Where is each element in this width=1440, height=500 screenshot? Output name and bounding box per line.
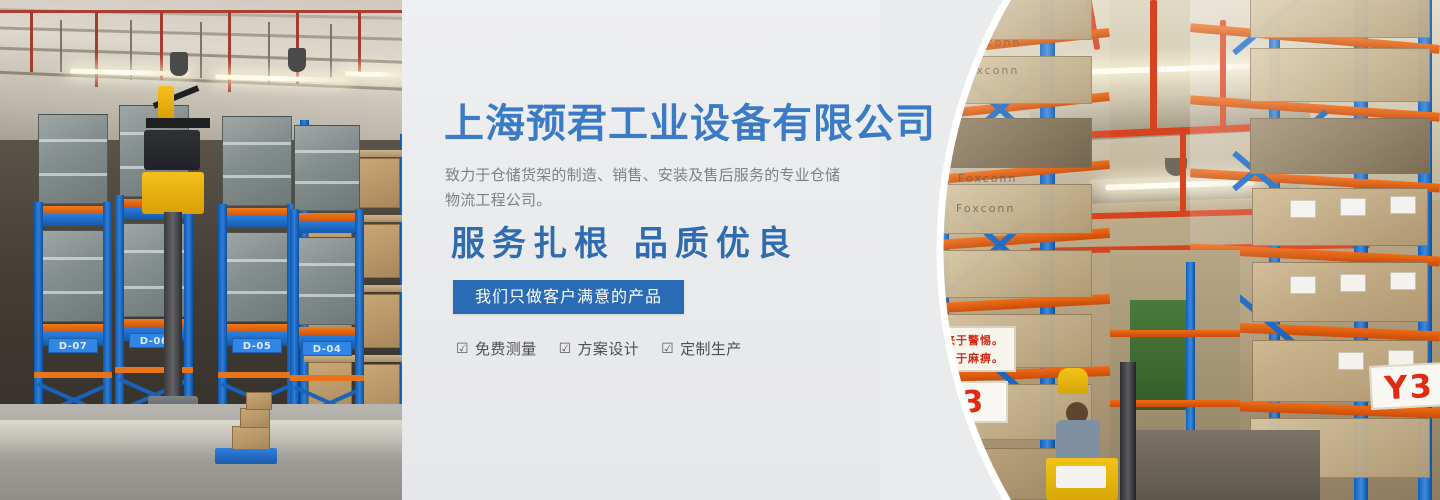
sprinkler-drop <box>358 12 361 76</box>
stacked-crate <box>38 114 108 204</box>
company-description: 致力于仓储货架的制造、销售、安装及售后服务的专业仓储物流工程公司。 <box>445 163 855 213</box>
stacked-crate <box>38 230 108 322</box>
forklift <box>1040 362 1160 500</box>
fire-pipe <box>1150 0 1157 130</box>
floor-light-reflection <box>0 420 402 460</box>
cardboard-box <box>246 392 272 410</box>
rack-label: D-05 <box>232 338 282 353</box>
feature-label: 免费测量 <box>475 338 537 359</box>
stacked-crate <box>294 237 360 325</box>
check-icon: ☑ <box>456 342 469 356</box>
rack-column: D-07 <box>34 114 112 444</box>
check-icon: ☑ <box>661 342 674 356</box>
stacked-crate <box>294 125 360 211</box>
fire-pipe <box>1180 130 1186 216</box>
hanger <box>268 22 270 84</box>
feature-item-custom-production: ☑ 定制生产 <box>661 338 742 359</box>
stacked-crate <box>222 232 292 322</box>
hanger <box>200 22 202 78</box>
rack-label: D-04 <box>302 341 352 356</box>
sprinkler-main <box>0 10 402 13</box>
cta-button[interactable]: 我们只做客户满意的产品 <box>453 280 684 314</box>
sprinkler-drop <box>30 12 33 72</box>
feature-list: ☑ 免费测量 ☑ 方案设计 ☑ 定制生产 <box>456 338 742 359</box>
page-title: 上海预君工业设备有限公司 <box>444 104 936 144</box>
banner-content: 上海预君工业设备有限公司 致力于仓储货架的制造、销售、安装及售后服务的专业仓储物… <box>444 0 944 500</box>
sprinkler-drop <box>95 12 98 87</box>
hanger <box>60 20 62 72</box>
rack-beam <box>1110 330 1240 337</box>
high-bay-lamp <box>288 48 306 72</box>
sprinkler-drop <box>228 12 231 92</box>
left-warehouse-photo: D-07 D-06 <box>0 0 402 500</box>
feature-item-free-measurement: ☑ 免费测量 <box>456 338 537 359</box>
blue-pallet <box>215 448 277 464</box>
right-warehouse-photo: Foxconn Foxconn Foxconn Foxconn <box>880 0 1440 500</box>
hero-banner: D-07 D-06 <box>0 0 1440 500</box>
forklift-panel <box>1056 466 1106 488</box>
cardboard-box <box>232 426 270 450</box>
feature-label: 定制生产 <box>680 338 742 359</box>
rack-label: D-07 <box>48 338 98 353</box>
rack-column: D-04 <box>290 119 364 444</box>
hanger <box>330 24 332 82</box>
check-icon: ☑ <box>559 342 572 356</box>
feature-label: 方案设计 <box>578 338 640 359</box>
slogan: 服务扎根 品质优良 <box>451 227 798 261</box>
turret-forklift <box>140 86 220 416</box>
stacked-crate <box>222 116 292 206</box>
cardboard-box <box>240 408 270 428</box>
aisle-marker-y3-right: Y3 <box>1369 362 1440 410</box>
feature-item-solution-design: ☑ 方案设计 <box>559 338 640 359</box>
high-bay-lamp <box>170 52 188 76</box>
